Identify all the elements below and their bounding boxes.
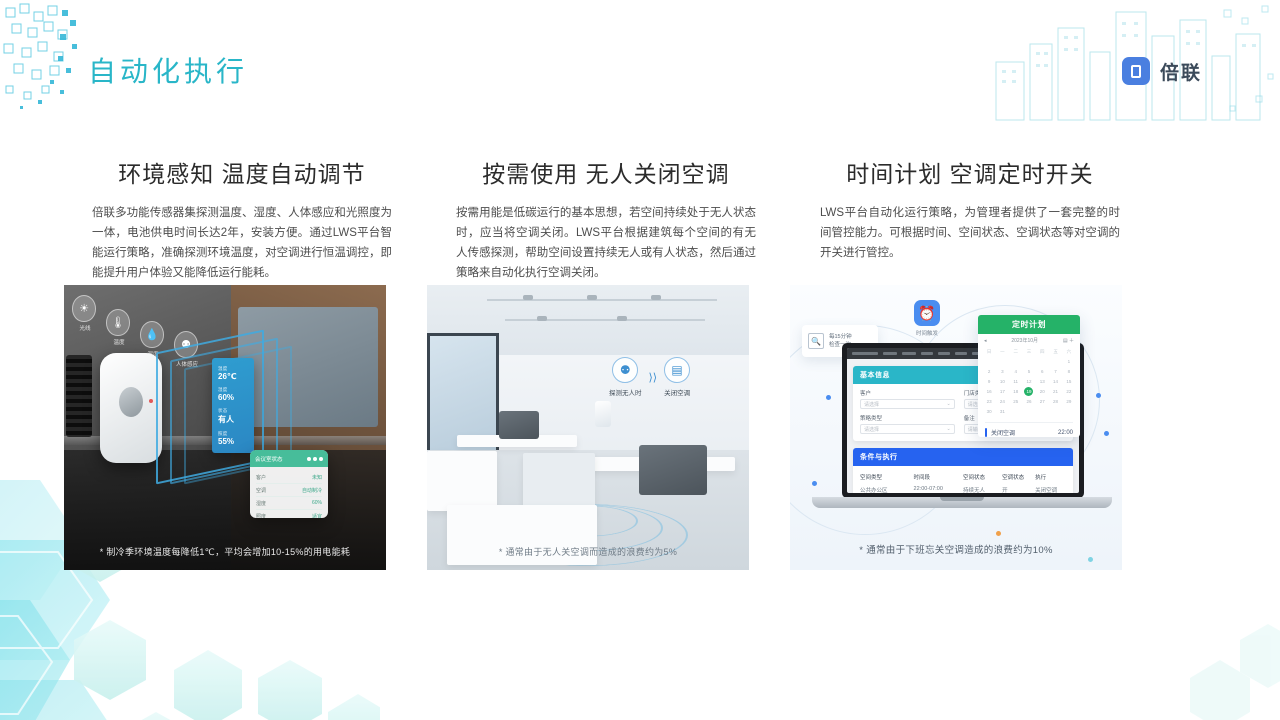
calendar-day[interactable]: 23 (983, 397, 995, 406)
rounded-square-logo-icon (1122, 57, 1150, 85)
decor-dot (826, 395, 831, 400)
readout-value-temp: 26℃ (218, 372, 248, 381)
figure-office-photo: ⚉ 探测无人时 ⟩⟩ ▤ 关闭空调 * 通常由于无人关空调而造成的浪费约为5% (427, 285, 749, 570)
calendar-day[interactable]: 29 (1063, 397, 1075, 406)
panel-row-value: 适宜 (312, 513, 322, 519)
field-customer-placeholder: 请选择 (864, 401, 879, 408)
track-lamp-icon (523, 295, 533, 300)
task-accent-bar (985, 428, 987, 437)
calendar-task-row[interactable]: 关闭空调 22:00 (985, 422, 1073, 437)
calendar-day[interactable] (996, 357, 1008, 366)
td-ac-status: 开 (1002, 486, 1035, 494)
calendar-grid: 日 一 二 三 四 五 六 1 2 3 4 5 6 7 8 (978, 347, 1080, 416)
calendar-dow: 二 (1010, 347, 1022, 356)
readout-key-lux: 照度 (218, 431, 248, 437)
th-ac-status: 空调状态 (1002, 473, 1035, 481)
laptop-notch (940, 497, 984, 501)
calendar-day[interactable]: 28 (1049, 397, 1061, 406)
calendar-task-label: 关闭空调 (991, 428, 1015, 437)
sensor-readout-card: 温度 26℃ 湿度 60% 状态 有人 照度 55% (212, 358, 254, 453)
time-trigger-label: 时间触发 (914, 329, 940, 337)
calendar-day[interactable]: 24 (996, 397, 1008, 406)
occupancy-detect-badge: ⚉ 探测无人时 (609, 357, 642, 397)
calendar-day[interactable]: 6 (1036, 367, 1048, 376)
calendar-day[interactable]: 11 (1010, 377, 1022, 386)
field-strategy-type-placeholder: 请选择 (864, 426, 879, 433)
table-row: 公共办公区 22:00-07:00 持续无人 开 关闭空调 (860, 483, 1066, 493)
alarm-clock-icon: ⏰ (914, 300, 940, 326)
th-time-range: 时间段 (914, 473, 963, 481)
light-sensor-glyph: ☀ (72, 295, 96, 322)
calendar-day[interactable]: 21 (1049, 387, 1061, 396)
track-lamp-icon (617, 316, 627, 321)
chevron-down-icon: ⌄ (947, 426, 951, 432)
calendar-dow: 五 (1049, 347, 1061, 356)
field-strategy-type-select[interactable]: 请选择 ⌄ (860, 424, 955, 434)
sensor-lens-icon (119, 387, 143, 417)
list-icon[interactable]: ▤ (1063, 338, 1068, 344)
panel-row-value: 自动制冷 (302, 487, 322, 494)
decor-dot (812, 481, 817, 486)
light-track (487, 299, 717, 301)
calendar-dow: 一 (996, 347, 1008, 356)
calendar-day[interactable] (1036, 357, 1048, 366)
panel-row-label: 湿度 (256, 500, 266, 507)
th-space-type: 空间类型 (860, 473, 914, 481)
figure-1-caption: * 制冷季环境温度每降低1℃，平均会增加10-15%的用电能耗 (64, 545, 386, 558)
plus-icon[interactable]: ＋ (1069, 338, 1074, 344)
office-monitor (639, 445, 707, 495)
brand-name: 倍联 (1160, 58, 1202, 85)
decor-dot (1096, 393, 1101, 398)
calendar-day[interactable]: 15 (1063, 377, 1075, 386)
calendar-dow: 四 (1036, 347, 1048, 356)
calendar-day[interactable]: 3 (996, 367, 1008, 376)
figure-2-badges: ⚉ 探测无人时 ⟩⟩ ▤ 关闭空调 (609, 357, 690, 397)
calendar-controls: ◂ 2023年10月 ▤ ＋ (978, 334, 1080, 347)
calendar-day[interactable] (1023, 357, 1035, 366)
condition-exec-card: 条件与执行 空间类型 时间段 空间状态 空调状态 执行 公共办公区 22:00-… (853, 448, 1073, 493)
light-track (505, 319, 705, 321)
field-strategy-type: 策略类型 请选择 ⌄ (860, 414, 955, 434)
td-action: 关闭空调 (1035, 486, 1066, 494)
th-space-status: 空间状态 (963, 473, 1002, 481)
calendar-day[interactable]: 26 (1023, 397, 1035, 406)
occupancy-detect-label: 探测无人时 (609, 387, 642, 397)
decor-bottom-right-hexagons (1100, 540, 1280, 720)
calendar-day[interactable] (1063, 407, 1075, 416)
calendar-day[interactable]: 14 (1049, 377, 1061, 386)
light-sensor-label: 光线 (72, 324, 98, 332)
calendar-day[interactable]: 5 (1023, 367, 1035, 376)
field-customer-select[interactable]: 请选择 ⌄ (860, 399, 955, 409)
figure-schedule-dashboard: 🔍 每15分钟 检查一次 ⏰ 时间触发 基本信息 (790, 285, 1122, 570)
td-space-status: 持续无人 (963, 486, 1002, 494)
condition-exec-title: 条件与执行 (853, 448, 1073, 466)
feature-column-2: 按需使用 无人关闭空调 按需用能是低碳运行的基本思想，若空间持续处于无人状态时，… (424, 155, 788, 283)
calendar-month-label: 2023年10月 (1011, 337, 1038, 344)
panel-row: 客户 未知 (256, 471, 322, 484)
figure-sensor-photo: ☀ 光线 🌡 温度 💧 湿度 ⚉ 人体感应 (64, 285, 386, 570)
calendar-day-selected[interactable]: 19 (1024, 387, 1033, 396)
panel-rows: 客户 未知 空调 自动制冷 湿度 60% 照度 适宜 (250, 467, 328, 518)
feature-column-3: 时间计划 空调定时开关 LWS平台自动化运行策略，为管理者提供了一套完整的时间管… (788, 155, 1152, 283)
calendar-day[interactable]: 1 (1063, 357, 1075, 366)
decor-dot (1088, 557, 1093, 562)
calendar-title: 定时计划 (978, 315, 1080, 334)
calendar-day[interactable]: 20 (1036, 387, 1048, 396)
panel-row: 空调 自动制冷 (256, 484, 322, 497)
chevron-down-icon: ⌄ (947, 401, 951, 407)
condition-exec-table: 空间类型 时间段 空间状态 空调状态 执行 公共办公区 22:00-07:00 … (853, 466, 1073, 493)
column-1-heading: 环境感知 温度自动调节 (60, 155, 424, 189)
panel-row: 湿度 60% (256, 497, 322, 510)
calendar-actions: ▤ ＋ (1063, 337, 1074, 344)
track-lamp-icon (537, 316, 547, 321)
calendar-prev-button[interactable]: ◂ (984, 338, 987, 344)
calendar-day[interactable]: 9 (983, 377, 995, 386)
laptop-base (812, 497, 1112, 508)
calendar-dow: 日 (983, 347, 995, 356)
calendar-day[interactable]: 4 (1010, 367, 1022, 376)
readout-key-humidity: 湿度 (218, 387, 248, 393)
calendar-day[interactable]: 7 (1049, 367, 1061, 376)
calendar-day[interactable]: 17 (996, 387, 1008, 396)
office-cabinet (427, 451, 497, 511)
schedule-calendar-panel: 定时计划 ◂ 2023年10月 ▤ ＋ 日 一 二 三 四 五 六 (978, 315, 1080, 437)
sensor-unit (595, 401, 611, 427)
calendar-day[interactable] (1010, 407, 1022, 416)
calendar-day[interactable]: 12 (1023, 377, 1035, 386)
air-conditioner-icon: ▤ (664, 357, 690, 383)
calendar-day[interactable]: 22 (1063, 387, 1075, 396)
light-sensor-icon: ☀ 光线 (72, 295, 98, 332)
readout-value-status: 有人 (218, 414, 248, 425)
calendar-day[interactable]: 30 (983, 407, 995, 416)
calendar-day[interactable]: 13 (1036, 377, 1048, 386)
column-3-body: LWS平台自动化运行策略，为管理者提供了一套完整的时间管控能力。可根据时间、空间… (820, 203, 1120, 263)
panel-window-dots-icon (307, 457, 323, 461)
calendar-task-time: 22:00 (1058, 430, 1073, 436)
calendar-day[interactable] (1010, 357, 1022, 366)
calendar-day[interactable] (1023, 407, 1035, 416)
td-space-type: 公共办公区 (860, 486, 914, 494)
sensor-device (100, 353, 162, 463)
page-title: 自动化执行 (88, 50, 248, 90)
panel-row-label: 空调 (256, 487, 266, 494)
calendar-day[interactable] (1049, 357, 1061, 366)
occupancy-detect-icon: ⚉ (612, 357, 638, 383)
panel-titlebar: 会议室状态 (250, 450, 328, 467)
air-conditioner-badge: ▤ 关闭空调 (664, 357, 690, 397)
calendar-day[interactable]: 25 (1010, 397, 1022, 406)
signal-wave-icon: ⟩⟩ (649, 371, 658, 384)
feature-column-1: 环境感知 温度自动调节 倍联多功能传感器集探测温度、湿度、人体感应和光照度为一体… (60, 155, 424, 283)
panel-row-label: 照度 (256, 513, 266, 519)
slide-header: 自动化执行 倍联 (0, 0, 1280, 120)
figure-2-caption: * 通常由于无人关空调而造成的浪费约为5% (427, 545, 749, 558)
th-action: 执行 (1035, 473, 1066, 481)
panel-row: 照度 适宜 (256, 510, 322, 518)
calendar-dow: 三 (1023, 347, 1035, 356)
air-conditioner-label: 关闭空调 (664, 387, 690, 397)
readout-key-status: 状态 (218, 408, 248, 414)
panel-title: 会议室状态 (255, 455, 283, 463)
inspect-interval-line1: 每15分钟 (829, 333, 852, 341)
calendar-day[interactable] (1049, 407, 1061, 416)
time-trigger-badge: ⏰ 时间触发 (914, 300, 940, 337)
table-header-row: 空间类型 时间段 空间状态 空调状态 执行 (860, 470, 1066, 483)
calendar-day[interactable]: 31 (996, 407, 1008, 416)
calendar-day[interactable]: 8 (1063, 367, 1075, 376)
readout-value-lux: 55% (218, 437, 248, 446)
track-lamp-icon (651, 295, 661, 300)
temperature-sensor-label: 温度 (106, 338, 132, 346)
panel-row-value: 60% (312, 500, 322, 507)
calendar-day[interactable]: 18 (1010, 387, 1022, 396)
track-lamp-icon (587, 295, 597, 300)
calendar-day[interactable] (1036, 407, 1048, 416)
temperature-sensor-icon: 🌡 温度 (106, 309, 132, 346)
temperature-sensor-glyph: 🌡 (106, 309, 130, 336)
calendar-task-name-wrap: 关闭空调 (985, 428, 1015, 437)
panel-row-value: 未知 (312, 474, 322, 481)
meeting-room-status-panel: 会议室状态 客户 未知 空调 自动制冷 湿度 60% 照度 适宜 (250, 450, 328, 518)
calendar-day[interactable] (983, 357, 995, 366)
field-customer-label: 客户 (860, 389, 955, 397)
calendar-day[interactable]: 27 (1036, 397, 1048, 406)
decor-dot (996, 531, 1001, 536)
brand-lockup: 倍联 (1122, 57, 1202, 85)
calendar-dow: 六 (1063, 347, 1075, 356)
column-2-heading: 按需使用 无人关闭空调 (424, 155, 788, 189)
readout-value-humidity: 60% (218, 393, 248, 402)
figure-3-caption: * 通常由于下班忘关空调造成的浪费约为10% (790, 542, 1122, 556)
inspect-document-icon: 🔍 (808, 333, 824, 349)
calendar-day[interactable]: 10 (996, 377, 1008, 386)
readout-key-temp: 温度 (218, 366, 248, 372)
td-time-range: 22:00-07:00 (914, 486, 963, 494)
panel-row-label: 客户 (256, 474, 266, 481)
feature-columns: 环境感知 温度自动调节 倍联多功能传感器集探测温度、湿度、人体感应和光照度为一体… (0, 155, 1280, 283)
column-1-body: 倍联多功能传感器集探测温度、湿度、人体感应和光照度为一体，电池供电时间长达2年，… (92, 203, 392, 283)
column-2-body: 按需用能是低碳运行的基本思想，若空间持续处于无人状态时，应当将空调关闭。LWS平… (456, 203, 756, 283)
office-monitor (499, 411, 539, 439)
decor-dot (1104, 431, 1109, 436)
field-customer: 客户 请选择 ⌄ (860, 389, 955, 409)
slide-root: 自动化执行 倍联 环境感知 温度自动调节 倍联多功能传感器集探测温度、湿度、人体… (0, 0, 1280, 720)
calendar-day[interactable]: 2 (983, 367, 995, 376)
sensor-led-icon (149, 399, 153, 403)
column-3-heading: 时间计划 空调定时开关 (788, 155, 1152, 189)
calendar-day[interactable]: 16 (983, 387, 995, 396)
field-strategy-type-label: 策略类型 (860, 414, 955, 422)
